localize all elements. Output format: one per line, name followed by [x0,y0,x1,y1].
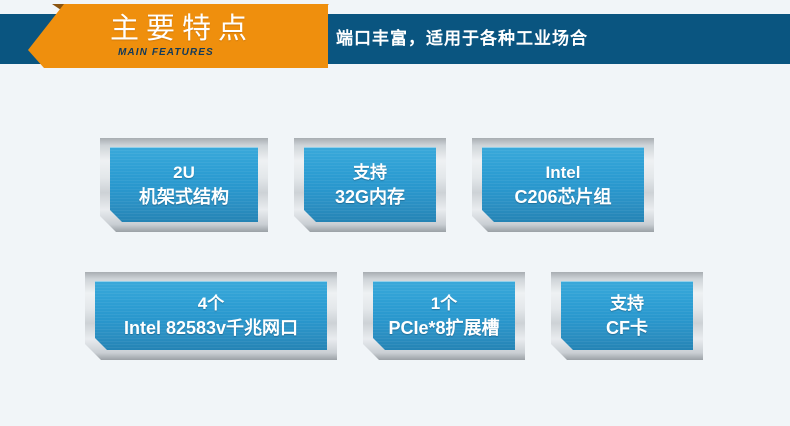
feature-card-line-1: 1个 [431,291,457,316]
feature-card-line-1: 支持 [610,291,644,316]
feature-card-line-2: Intel 82583v千兆网口 [124,316,298,341]
feature-card-panel: 1个 PCIe*8扩展槽 [373,281,515,350]
feature-card-line-2: C206芯片组 [514,185,611,210]
feature-card-2u: 2U 机架式结构 [100,138,268,232]
feature-card-panel: Intel C206芯片组 [482,147,644,222]
feature-card-line-2: PCIe*8扩展槽 [388,316,499,341]
feature-card-line-2: 32G内存 [335,185,405,210]
feature-card-line-1: 2U [173,160,195,185]
feature-card-panel: 支持 CF卡 [561,281,693,350]
feature-card-panel: 2U 机架式结构 [110,147,258,222]
feature-card-panel: 支持 32G内存 [304,147,436,222]
feature-card-line-1: Intel [546,160,581,185]
feature-highlight-page: 主要特点 MAIN FEATURES 端口丰富，适用于各种工业场合 2U 机架式… [0,0,790,426]
feature-card-memory: 支持 32G内存 [294,138,446,232]
feature-card-panel: 4个 Intel 82583v千兆网口 [95,281,327,350]
feature-row-2: 4个 Intel 82583v千兆网口 1个 PCIe*8扩展槽 支持 CF卡 [85,272,729,360]
feature-grid: 2U 机架式结构 支持 32G内存 Intel C206芯片组 [0,0,790,426]
feature-row-1: 2U 机架式结构 支持 32G内存 Intel C206芯片组 [100,138,680,232]
feature-card-line-2: CF卡 [606,316,648,341]
feature-card-chipset: Intel C206芯片组 [472,138,654,232]
feature-card-pcie-slot: 1个 PCIe*8扩展槽 [363,272,525,360]
feature-card-cf-card: 支持 CF卡 [551,272,703,360]
feature-card-line-1: 4个 [198,291,224,316]
feature-card-lan-ports: 4个 Intel 82583v千兆网口 [85,272,337,360]
feature-card-line-2: 机架式结构 [139,185,229,210]
feature-card-line-1: 支持 [353,160,387,185]
